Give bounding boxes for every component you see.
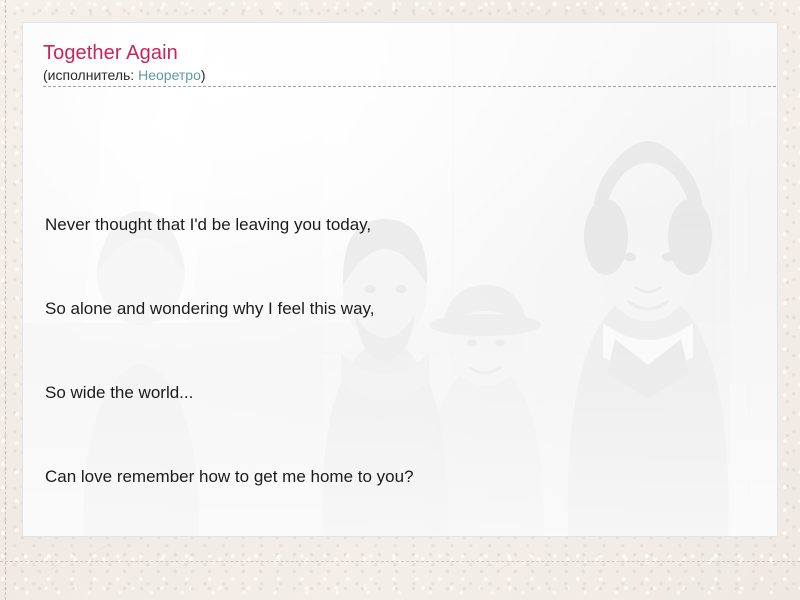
lyric-line: Can love remember how to get me home to … [45, 463, 757, 491]
song-subtitle: (исполнитель: Неоретро) [43, 66, 757, 84]
lyric-line: So wide the world... [45, 379, 757, 407]
lyric-line: Never thought that I'd be leaving you to… [45, 211, 757, 239]
lyric-stanza: Never thought that I'd be leaving you to… [45, 155, 757, 537]
lyrics-body: Never thought that I'd be leaving you to… [45, 99, 757, 537]
header-divider [43, 86, 778, 87]
subtitle-prefix-label: (исполнитель: [43, 67, 138, 83]
canvas-guide-line-left [5, 0, 6, 600]
lyric-line: So alone and wondering why I feel this w… [45, 295, 757, 323]
artist-link[interactable]: Неоретро [138, 67, 201, 83]
subtitle-suffix-label: ) [201, 67, 206, 83]
canvas-guide-line-bottom [0, 561, 800, 562]
slide-panel[interactable]: Together Again (исполнитель: Неоретро) N… [22, 22, 778, 537]
song-title: Together Again [43, 41, 757, 65]
